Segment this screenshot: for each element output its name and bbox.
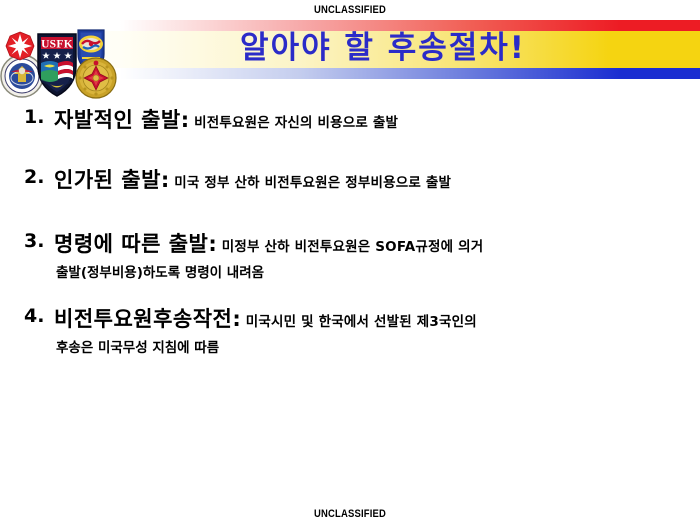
content-list: 1. 자발적인 출발: 비전투요원은 자신의 비용으로 출발 2. 인가된 출발… (0, 104, 700, 370)
list-item-body: 미국 정부 산하 비전투요원은 정부비용으로 출발 (174, 175, 451, 191)
list-item-heading: 자발적인 출발: (54, 108, 190, 132)
unc-insignia-icon (6, 32, 34, 60)
list-item: 3. 명령에 따른 출발: 미정부 산하 비전투요원은 SOFA규정에 의거 출… (0, 228, 700, 281)
list-item-line: 명령에 따른 출발: 미정부 산하 비전투요원은 SOFA규정에 의거 (26, 228, 700, 258)
list-item: 1. 자발적인 출발: 비전투요원은 자신의 비용으로 출발 (0, 104, 700, 134)
list-item-heading: 인가된 출발: (54, 168, 170, 192)
list-item-line: 자발적인 출발: 비전투요원은 자신의 비용으로 출발 (26, 104, 700, 134)
list-item: 4. 비전투요원후송작전: 미국시민 및 한국에서 선발된 제3국인의 후송은 … (0, 303, 700, 356)
list-item: 2. 인가된 출발: 미국 정부 산하 비전투요원은 정부비용으로 출발 (0, 164, 700, 194)
list-item-number: 2. (24, 166, 44, 188)
list-item-number: 1. (24, 106, 44, 128)
list-item-line: 비전투요원후송작전: 미국시민 및 한국에서 선발된 제3국인의 (26, 303, 700, 333)
list-item-number: 3. (24, 230, 44, 252)
emblem-cluster: USFK (0, 14, 128, 102)
svg-text:USFK: USFK (41, 38, 73, 50)
list-item-heading: 명령에 따른 출발: (54, 232, 217, 256)
list-item-body: 비전투요원은 자신의 비용으로 출발 (194, 115, 398, 131)
list-item-continuation: 후송은 미국무성 지침에 따름 (26, 336, 700, 356)
list-item-line: 인가된 출발: 미국 정부 산하 비전투요원은 정부비용으로 출발 (26, 164, 700, 194)
list-item-body: 미정부 산하 비전투요원은 SOFA규정에 의거 (222, 239, 484, 255)
eighth-army-emblem-icon (76, 58, 116, 98)
classification-marking-bottom: UNCLASSIFIED (49, 508, 651, 520)
usfk-shield-icon: USFK (38, 34, 76, 96)
classification-marking-top: UNCLASSIFIED (49, 4, 651, 16)
list-item-heading: 비전투요원후송작전: (54, 307, 241, 331)
cfc-seal-icon (1, 55, 43, 97)
list-item-number: 4. (24, 305, 44, 327)
list-item-continuation: 출발(정부비용)하도록 명령이 내려옴 (26, 261, 700, 281)
list-item-body: 미국시민 및 한국에서 선발된 제3국인의 (246, 314, 477, 330)
